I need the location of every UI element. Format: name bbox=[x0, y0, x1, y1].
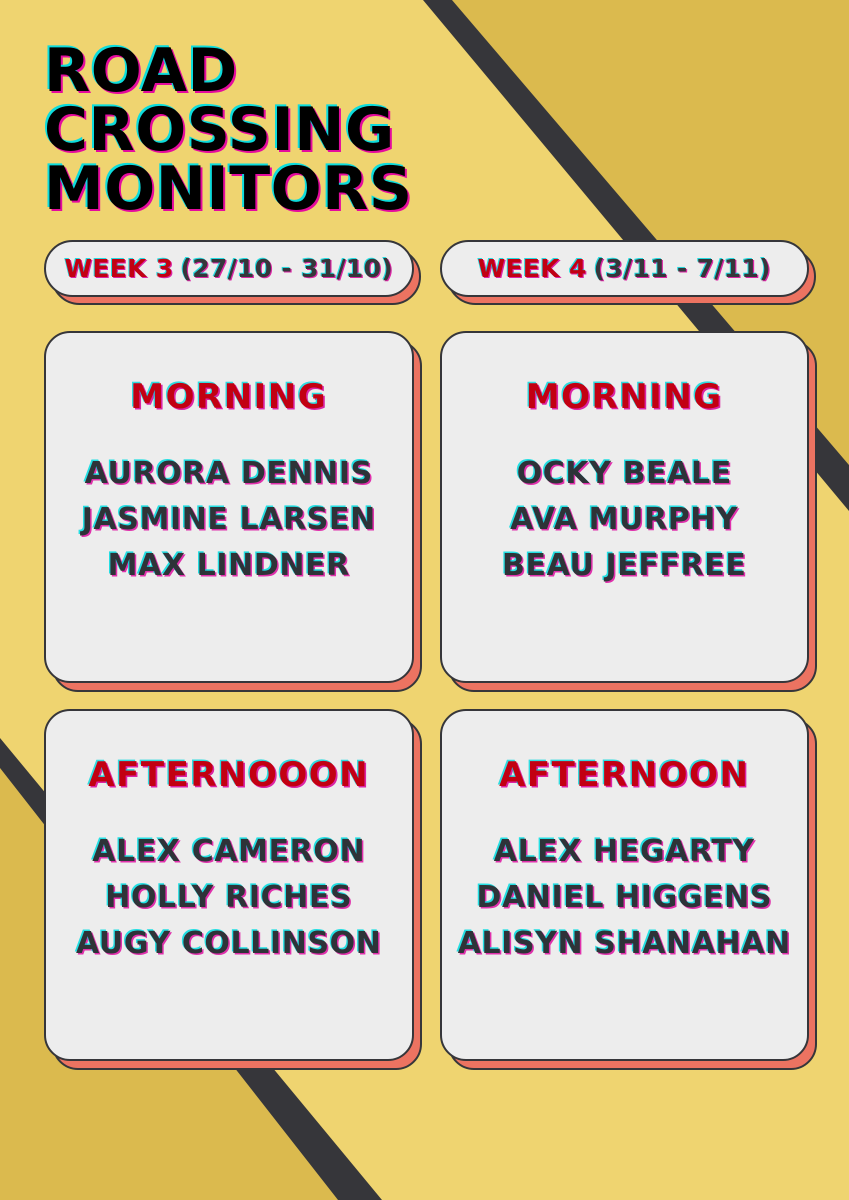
roster-card-week3-afternoon[interactable]: AFTERNOOON ALEX CAMERON HOLLY RICHES AUG… bbox=[44, 709, 414, 1061]
card-heading-week3-afternoon: AFTERNOOON bbox=[54, 755, 404, 795]
roster-card-week4-morning[interactable]: MORNING OCKY BEALE AVA MURPHY BEAU JEFFR… bbox=[440, 331, 810, 683]
list-item: JASMINE LARSEN bbox=[54, 497, 404, 543]
list-item: HOLLY RICHES bbox=[54, 875, 404, 921]
list-item: AVA MURPHY bbox=[450, 497, 800, 543]
poster: ROAD CROSSING MONITORS WEEK 3 (27/10 - 3… bbox=[0, 0, 849, 1200]
week-pill-1[interactable]: WEEK 3 (27/10 - 31/10) bbox=[44, 240, 414, 297]
name-list-week4-morning: OCKY BEALE AVA MURPHY BEAU JEFFREE bbox=[450, 451, 800, 588]
week-header-row: WEEK 3 (27/10 - 31/10) WEEK 4 (3/11 - 7/… bbox=[44, 240, 809, 297]
title-line-2: CROSSING bbox=[44, 101, 809, 160]
card-wrapper-week4-morning: MORNING OCKY BEALE AVA MURPHY BEAU JEFFR… bbox=[440, 331, 810, 683]
name-list-week3-morning: AURORA DENNIS JASMINE LARSEN MAX LINDNER bbox=[54, 451, 404, 588]
week-pill-2[interactable]: WEEK 4 (3/11 - 7/11) bbox=[440, 240, 810, 297]
list-item: AURORA DENNIS bbox=[54, 451, 404, 497]
poster-content: ROAD CROSSING MONITORS WEEK 3 (27/10 - 3… bbox=[0, 0, 849, 1200]
roster-card-grid: MORNING AURORA DENNIS JASMINE LARSEN MAX… bbox=[44, 331, 809, 1061]
week-pill-wrapper-2: WEEK 4 (3/11 - 7/11) bbox=[440, 240, 810, 297]
card-wrapper-week4-afternoon: AFTERNOON ALEX HEGARTY DANIEL HIGGENS AL… bbox=[440, 709, 810, 1061]
week-label-2: WEEK 4 bbox=[478, 254, 587, 283]
week-pill-wrapper-1: WEEK 3 (27/10 - 31/10) bbox=[44, 240, 414, 297]
card-heading-week4-afternoon: AFTERNOON bbox=[450, 755, 800, 795]
list-item: BEAU JEFFREE bbox=[450, 543, 800, 589]
list-item: ALISYN SHANAHAN bbox=[450, 921, 800, 967]
page-title: ROAD CROSSING MONITORS bbox=[44, 42, 809, 218]
card-wrapper-week3-morning: MORNING AURORA DENNIS JASMINE LARSEN MAX… bbox=[44, 331, 414, 683]
roster-card-week3-morning[interactable]: MORNING AURORA DENNIS JASMINE LARSEN MAX… bbox=[44, 331, 414, 683]
card-heading-week3-morning: MORNING bbox=[54, 377, 404, 417]
list-item: DANIEL HIGGENS bbox=[450, 875, 800, 921]
week-dates-1: (27/10 - 31/10) bbox=[180, 254, 393, 283]
list-item: OCKY BEALE bbox=[450, 451, 800, 497]
list-item: AUGY COLLINSON bbox=[54, 921, 404, 967]
roster-card-week4-afternoon[interactable]: AFTERNOON ALEX HEGARTY DANIEL HIGGENS AL… bbox=[440, 709, 810, 1061]
title-line-1: ROAD bbox=[44, 42, 809, 101]
name-list-week4-afternoon: ALEX HEGARTY DANIEL HIGGENS ALISYN SHANA… bbox=[450, 829, 800, 966]
week-dates-2: (3/11 - 7/11) bbox=[594, 254, 771, 283]
list-item: MAX LINDNER bbox=[54, 543, 404, 589]
list-item: ALEX HEGARTY bbox=[450, 829, 800, 875]
card-wrapper-week3-afternoon: AFTERNOOON ALEX CAMERON HOLLY RICHES AUG… bbox=[44, 709, 414, 1061]
card-heading-week4-morning: MORNING bbox=[450, 377, 800, 417]
name-list-week3-afternoon: ALEX CAMERON HOLLY RICHES AUGY COLLINSON bbox=[54, 829, 404, 966]
week-label-1: WEEK 3 bbox=[64, 254, 173, 283]
title-line-3: MONITORS bbox=[44, 160, 809, 219]
list-item: ALEX CAMERON bbox=[54, 829, 404, 875]
